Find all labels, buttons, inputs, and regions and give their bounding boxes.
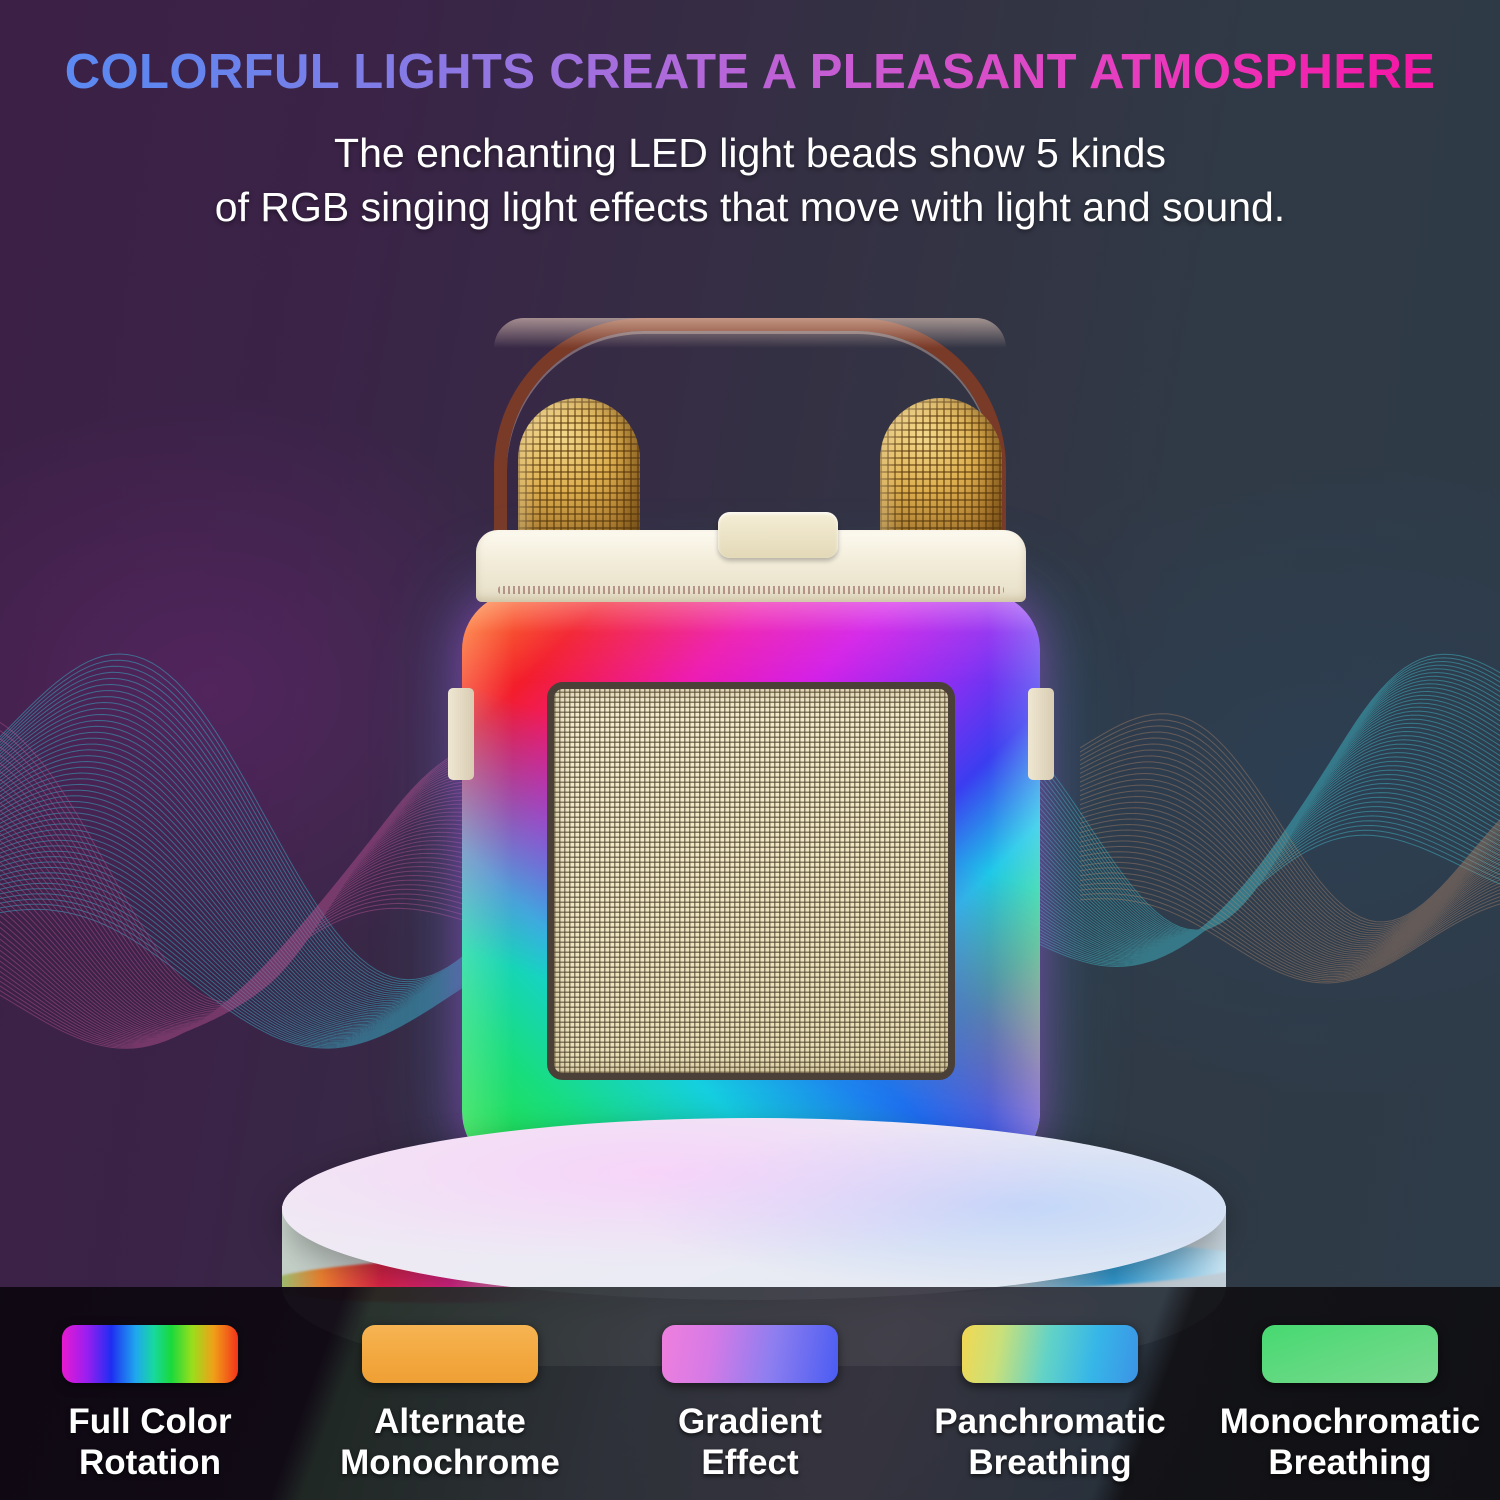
mic-body bbox=[527, 580, 631, 614]
speaker-top-panel bbox=[476, 530, 1026, 602]
legend-item[interactable]: Alternate Monochrome bbox=[300, 1325, 600, 1484]
microphone-left bbox=[518, 398, 640, 614]
wave-left-pink bbox=[0, 580, 690, 1220]
legend-item[interactable]: Gradient Effect bbox=[600, 1325, 900, 1484]
monochromatic-breathing-swatch bbox=[1262, 1325, 1438, 1383]
legend-item-label: Gradient Effect bbox=[600, 1401, 900, 1484]
wave-right-teal bbox=[1020, 560, 1500, 1120]
microphone-right bbox=[880, 398, 1002, 614]
speaker-rgb-body bbox=[462, 592, 1040, 1170]
subheadline-line-2: of RGB singing light effects that move w… bbox=[0, 180, 1500, 234]
legend-item-label: Alternate Monochrome bbox=[300, 1401, 600, 1484]
carry-handle bbox=[494, 318, 1006, 708]
mic-gold-ring bbox=[518, 546, 640, 580]
legend-item-label: Full Color Rotation bbox=[0, 1401, 300, 1484]
strap-tab-left bbox=[448, 688, 474, 780]
speaker-grille bbox=[547, 682, 955, 1080]
mic-mesh-head bbox=[880, 398, 1002, 550]
legend-item[interactable]: Panchromatic Breathing bbox=[900, 1325, 1200, 1484]
page-subheadline: The enchanting LED light beads show 5 ki… bbox=[0, 126, 1500, 234]
subheadline-line-1: The enchanting LED light beads show 5 ki… bbox=[0, 126, 1500, 180]
speaker-unit bbox=[462, 530, 1040, 1170]
full-color-rotation-swatch bbox=[62, 1325, 238, 1383]
page-headline: COLORFUL LIGHTS CREATE A PLEASANT ATMOSP… bbox=[0, 44, 1500, 100]
legend-item[interactable]: Full Color Rotation bbox=[0, 1325, 300, 1484]
legend-item[interactable]: Monochromatic Breathing bbox=[1200, 1325, 1500, 1484]
pedestal-top bbox=[282, 1118, 1226, 1300]
wave-right-warm bbox=[1080, 640, 1500, 1080]
speaker-top-button bbox=[718, 512, 838, 558]
panchromatic-breathing-swatch bbox=[962, 1325, 1138, 1383]
strap-tab-right bbox=[1028, 688, 1054, 780]
mic-gold-ring bbox=[880, 546, 1002, 580]
alternate-monochrome-swatch bbox=[362, 1325, 538, 1383]
speaker-foot-right bbox=[868, 1166, 940, 1182]
speaker-foot-left bbox=[558, 1166, 630, 1182]
legend-item-label: Monochromatic Breathing bbox=[1200, 1401, 1500, 1484]
speaker-vent-strip bbox=[498, 586, 1004, 594]
light-effects-legend: Full Color RotationAlternate MonochromeG… bbox=[0, 1287, 1500, 1500]
wave-left-teal bbox=[0, 560, 720, 1180]
legend-item-label: Panchromatic Breathing bbox=[900, 1401, 1200, 1484]
mic-body bbox=[889, 580, 993, 614]
light-effects-footer: Full Color RotationAlternate MonochromeG… bbox=[0, 1287, 1500, 1500]
speaker-gloss-highlight bbox=[462, 592, 1040, 1170]
product-feature-banner: COLORFUL LIGHTS CREATE A PLEASANT ATMOSP… bbox=[0, 0, 1500, 1500]
mic-mesh-head bbox=[518, 398, 640, 550]
gradient-effect-swatch bbox=[662, 1325, 838, 1383]
